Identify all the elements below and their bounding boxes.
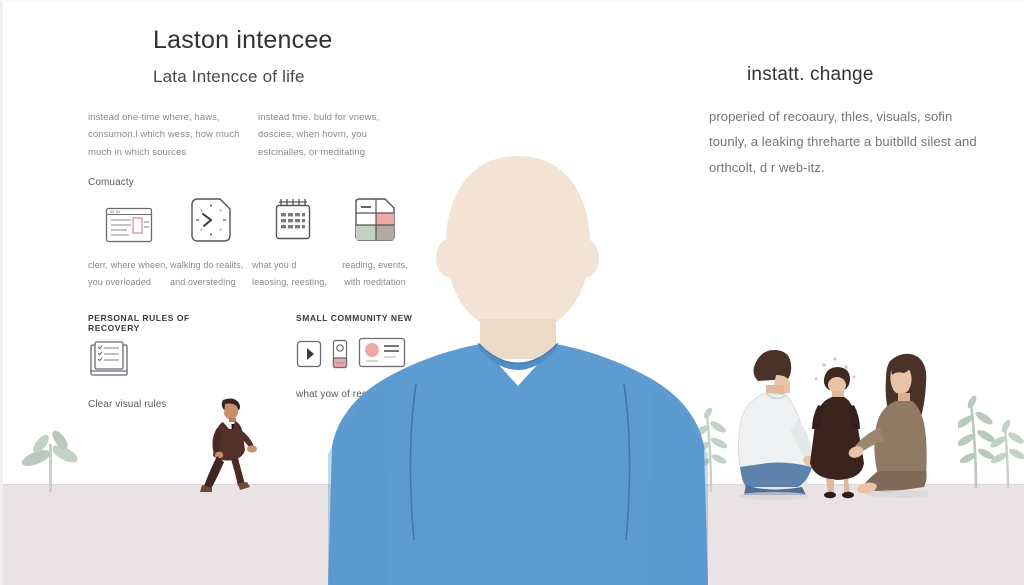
section-heading-1: PERSONAL RULES OF RECOVERY <box>88 313 210 333</box>
seated-group <box>728 335 928 505</box>
feature-cell-1[interactable]: clerr, where wheen, you overloaded <box>88 193 170 291</box>
plant-right <box>958 384 1024 493</box>
right-panel-title: instatt. change <box>709 64 979 86</box>
central-figure <box>328 154 708 585</box>
feature-cell-3[interactable]: what you d leaosing, reesting, <box>252 193 334 291</box>
clock-icon <box>190 193 232 243</box>
intro-column-1: instead one-time where, haws, consumon.l… <box>88 109 240 162</box>
window-document-icon <box>105 193 153 243</box>
clipboard-checklist-icon <box>88 340 130 385</box>
right-panel-body: properied of recoaury, thles, visuals, s… <box>709 104 979 180</box>
calendar-icon <box>272 193 314 243</box>
play-button-icon <box>296 338 322 375</box>
walking-businessman <box>193 394 269 499</box>
page-subtitle: Lata Intencce of life <box>88 67 418 87</box>
feature-caption-3: what you d leaosing, reesting, <box>252 257 334 291</box>
section-caption-1: Clear visual rules <box>88 399 210 410</box>
section-personal-rules[interactable]: PERSONAL RULES OF RECOVERY <box>88 313 210 410</box>
overlabel-comuacty: Comuacty <box>88 177 134 188</box>
intro-text-1: instead one-time where, haws, consumon.l… <box>88 109 240 162</box>
right-panel: instatt. change properied of recoaury, t… <box>709 64 979 180</box>
feature-caption-2: walking do realits, and oversteding <box>170 257 252 291</box>
plant-left <box>21 414 81 497</box>
section-icons-1 <box>88 341 210 385</box>
illustration-canvas: Laston intencee Lata Intencce of life in… <box>0 0 1024 585</box>
feature-cell-2[interactable]: walking do realits, and oversteding <box>170 193 252 291</box>
page-title: Laston intencee <box>88 27 418 55</box>
feature-caption-1: clerr, where wheen, you overloaded <box>88 257 170 291</box>
